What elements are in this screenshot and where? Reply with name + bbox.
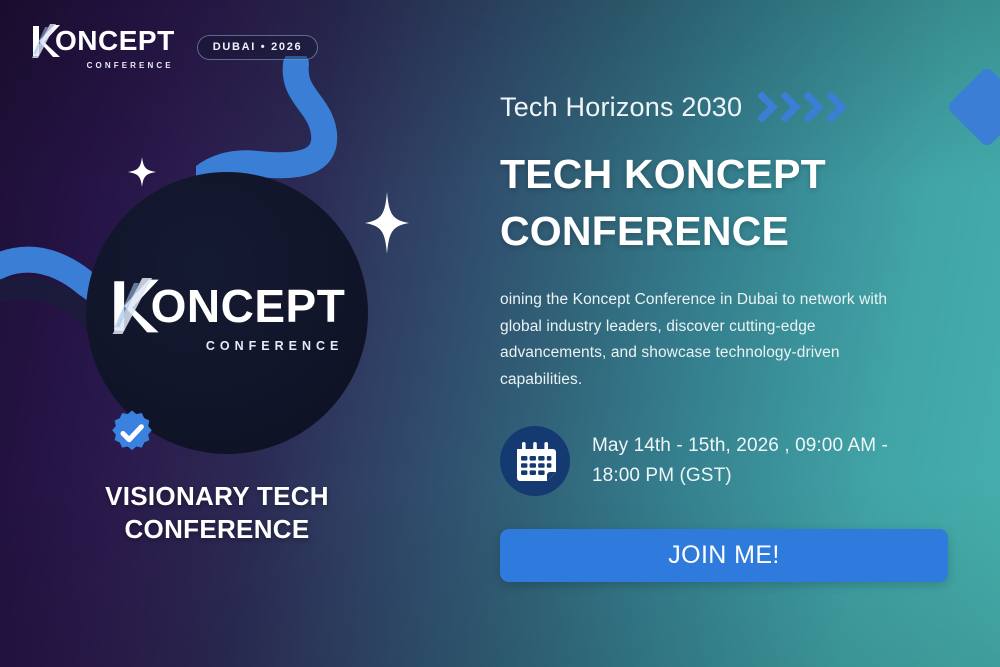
eyebrow-row: Tech Horizons 2030: [500, 86, 920, 128]
calendar-icon: [513, 439, 557, 483]
sparkle-icon-large: [365, 192, 409, 254]
event-title-line-1: TECH KONCEPT: [500, 146, 920, 203]
chevron-right-icon: [758, 92, 780, 122]
koncept-logo[interactable]: ONCEPT CONFERENCE: [30, 24, 175, 70]
event-title-line-2: CONFERENCE: [500, 203, 920, 260]
corner-diamond-accent: [946, 66, 1000, 148]
event-date-text: May 14th - 15th, 2026 , 09:00 AM - 18:00…: [592, 431, 892, 490]
chevron-arrows-group: [758, 92, 849, 122]
event-description: oining the Koncept Conference in Dubai t…: [500, 287, 905, 394]
logo-wordmark-row: ONCEPT: [30, 24, 175, 58]
logo-wordmark-row-large: ONCEPT: [109, 278, 346, 334]
event-title: TECH KONCEPT CONFERENCE: [500, 146, 920, 259]
logo-wordmark-large: ONCEPT: [151, 283, 346, 329]
sparkle-icon-small: [128, 157, 156, 187]
event-poster: ONCEPT CONFERENCE DUBAI • 2026 ONCEPT CO…: [0, 0, 1000, 667]
chevron-right-icon: [781, 92, 803, 122]
right-content-column: Tech Horizons 2030 TECH KONCEPT CONFEREN…: [500, 86, 920, 582]
koncept-logo-large: ONCEPT CONFERENCE: [109, 278, 346, 353]
logo-wordmark: ONCEPT: [55, 27, 175, 55]
header-logo-area: ONCEPT CONFERENCE DUBAI • 2026: [30, 24, 318, 70]
verified-check-icon: [108, 409, 156, 457]
chevron-right-icon: [827, 92, 849, 122]
location-year-badge: DUBAI • 2026: [197, 35, 319, 60]
logo-subtitle: CONFERENCE: [87, 62, 174, 70]
event-date-row: May 14th - 15th, 2026 , 09:00 AM - 18:00…: [500, 426, 920, 496]
join-me-button[interactable]: JOIN ME!: [500, 529, 948, 582]
chevron-right-icon: [804, 92, 826, 122]
calendar-icon-circle: [500, 426, 570, 496]
eyebrow-text: Tech Horizons 2030: [500, 92, 742, 123]
logo-subtitle-large: CONFERENCE: [206, 340, 344, 353]
left-caption: VISIONARY TECH CONFERENCE: [52, 480, 382, 547]
